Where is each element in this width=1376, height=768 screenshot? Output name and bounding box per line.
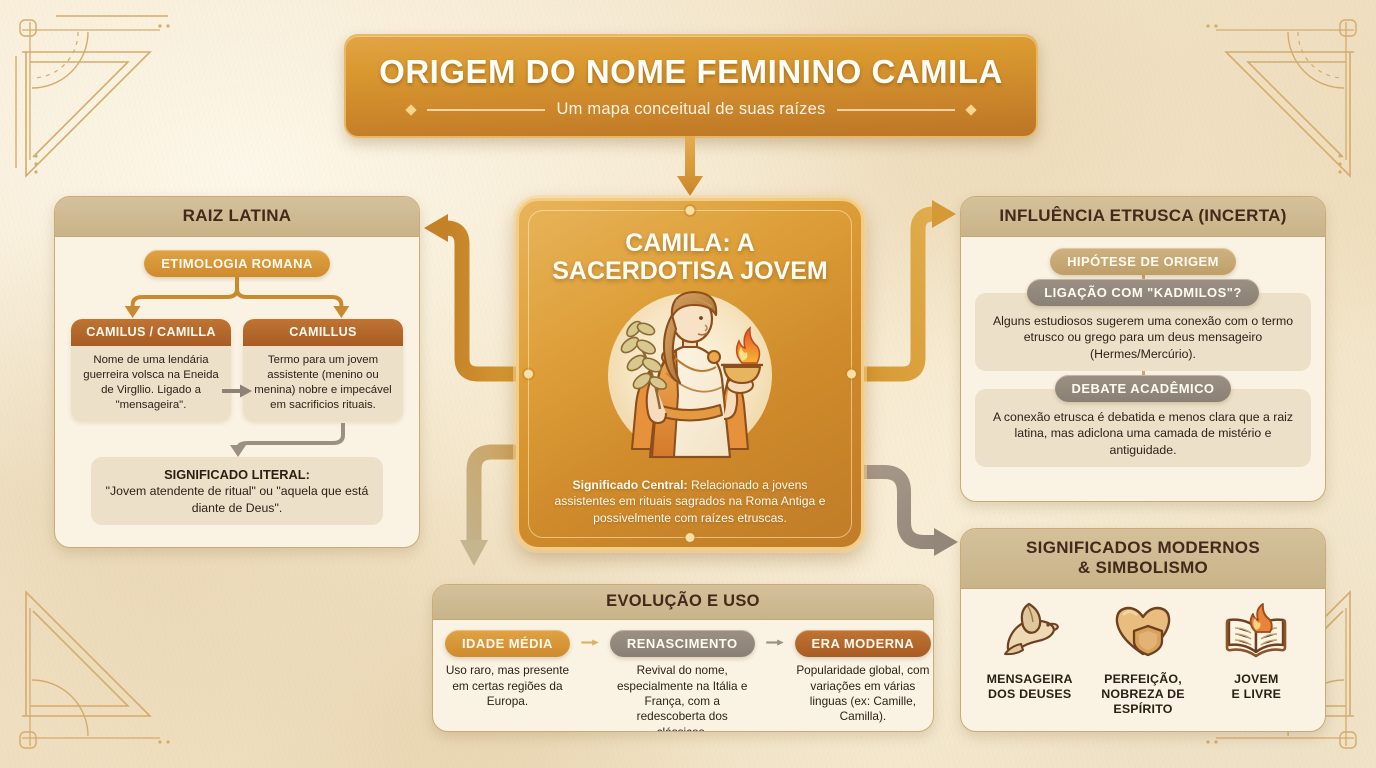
center-card-title-line-1: CAMILA: A <box>519 229 861 257</box>
page-subtitle: Um mapa conceitual de suas raízes <box>557 100 826 119</box>
card-camilus-camilla[interactable]: CAMILUS / CAMILLA Nome de uma lendária g… <box>71 319 231 421</box>
timeline-row: IDADE MÉDIA Uso raro, mas presente em ce… <box>445 630 921 732</box>
center-card-title-line-2: SACERDOTISA JOVEM <box>519 257 861 285</box>
symbol-item-perfeicao[interactable]: PERFEIÇÃO, NOBREZA DE ESPÍRITO <box>1089 602 1197 717</box>
pill-idade-media[interactable]: IDADE MÉDIA <box>445 630 570 657</box>
corner-ornament-bottom-left <box>0 588 180 768</box>
panel-influencia-etrusca-body: HIPÓTESE DE ORIGEM LIGAÇÃO COM "KADMILOS… <box>961 237 1325 479</box>
pill-ligacao-kadmilos[interactable]: LIGAÇÃO COM "KADMILOS"? <box>1027 279 1258 306</box>
branch-column-1: CAMILLUS Termo para um jovem assistente … <box>243 319 403 421</box>
card-camillus-title: CAMILLUS <box>243 319 403 346</box>
timeline-arrow-2-icon <box>755 630 795 646</box>
panel-significados-modernos-body: MENSAGEIRA DOS DEUSES PERFEIÇÃO, NOBREZA… <box>961 589 1325 727</box>
panel-significados-modernos-heading-line-2: & SIMBOLISMO <box>971 558 1315 578</box>
card-camilus-camilla-title: CAMILUS / CAMILLA <box>71 319 231 346</box>
diamond-ornament-right <box>966 104 977 115</box>
page-title: ORIGEM DO NOME FEMININO CAMILA <box>379 53 1003 91</box>
symbol-label-perfeicao: PERFEIÇÃO, NOBREZA DE ESPÍRITO <box>1089 672 1197 717</box>
card-significado-literal: SIGNIFICADO LITERAL: "Jovem atendente de… <box>91 457 383 525</box>
rule-left <box>427 109 545 111</box>
corner-ornament-top-left <box>0 0 180 180</box>
timeline-arrow-1-icon <box>570 630 610 646</box>
panel-evolucao-body: IDADE MÉDIA Uso raro, mas presente em ce… <box>433 620 933 732</box>
significado-literal-title: SIGNIFICADO LITERAL: <box>102 466 372 483</box>
text-era-moderna: Popularidade global, com variações em vá… <box>795 663 932 724</box>
timeline-stage-renascimento[interactable]: RENASCIMENTO Revival do nome, especialme… <box>610 630 755 732</box>
pill-etimologia-romana[interactable]: ETIMOLOGIA ROMANA <box>144 250 330 277</box>
heart-shield-icon <box>1112 602 1174 660</box>
panel-raiz-latina: RAIZ LATINA ETIMOLOGIA ROMANA CAMILUS / … <box>54 196 420 548</box>
panel-significados-modernos: SIGNIFICADOS MODERNOS & SIMBOLISMO MENSA… <box>960 528 1326 732</box>
node-dot-left <box>524 370 533 379</box>
panel-influencia-etrusca-heading: INFLUÊNCIA ETRUSCA (INCERTA) <box>961 197 1325 237</box>
rule-right <box>837 109 955 111</box>
panel-raiz-latina-heading: RAIZ LATINA <box>55 197 419 237</box>
connector-center-to-latina-icon <box>424 214 516 374</box>
diamond-ornament-left <box>405 104 416 115</box>
center-card-title: CAMILA: A SACERDOTISA JOVEM <box>519 229 861 286</box>
center-card-footnote: Significado Central: Relacionado a joven… <box>541 477 839 527</box>
arrow-between-camilus-and-camillus-icon <box>222 383 252 399</box>
connector-center-to-etrusca-icon <box>864 200 956 374</box>
panel-evolucao-heading: EVOLUÇÃO E USO <box>433 585 933 620</box>
center-card-footnote-label: Significado Central: <box>572 478 687 492</box>
etimologia-branch-columns: CAMILUS / CAMILLA Nome de uma lendária g… <box>71 319 403 421</box>
pill-renascimento[interactable]: RENASCIMENTO <box>610 630 755 657</box>
panel-influencia-etrusca: INFLUÊNCIA ETRUSCA (INCERTA) HIPÓTESE DE… <box>960 196 1326 502</box>
title-banner: ORIGEM DO NOME FEMININO CAMILA Um mapa c… <box>344 34 1038 138</box>
pill-hipotese-de-origem[interactable]: HIPÓTESE DE ORIGEM <box>1050 248 1236 275</box>
connector-center-to-evolucao-icon <box>460 452 516 566</box>
pill-era-moderna[interactable]: ERA MODERNA <box>795 630 932 657</box>
text-renascimento: Revival do nome, especialmente na Itália… <box>610 663 755 732</box>
symbol-row: MENSAGEIRA DOS DEUSES PERFEIÇÃO, NOBREZA… <box>973 602 1313 717</box>
card-camilus-camilla-text: Nome de uma lendária guerreira volsca na… <box>71 346 231 421</box>
symbol-item-jovem-livre[interactable]: JOVEM E LIVRE <box>1202 602 1310 702</box>
card-camillus[interactable]: CAMILLUS Termo para um jovem assistente … <box>243 319 403 421</box>
node-dot-right <box>847 370 856 379</box>
node-dot-bottom <box>686 533 695 542</box>
card-ligacao-kadmilos[interactable]: LIGAÇÃO COM "KADMILOS"? Alguns estudioso… <box>975 279 1311 371</box>
branch-connector-icon <box>71 277 403 319</box>
priestess-illustration-icon <box>584 289 796 467</box>
panel-raiz-latina-body: ETIMOLOGIA ROMANA CAMILUS / CAMILLA Nome… <box>55 237 419 540</box>
subtitle-row: Um mapa conceitual de suas raízes <box>407 100 976 119</box>
branch-column-0: CAMILUS / CAMILLA Nome de uma lendária g… <box>71 319 231 421</box>
center-card-camila: CAMILA: A SACERDOTISA JOVEM <box>516 198 864 550</box>
book-flame-icon <box>1225 602 1287 660</box>
panel-evolucao-e-uso: EVOLUÇÃO E USO IDADE MÉDIA Uso raro, mas… <box>432 584 934 732</box>
text-idade-media: Uso raro, mas presente em certas regiões… <box>445 663 570 709</box>
card-debate-academico[interactable]: DEBATE ACADÊMICO A conexão etrusca é deb… <box>975 375 1311 467</box>
etimologia-romana-row: ETIMOLOGIA ROMANA <box>71 250 403 277</box>
timeline-stage-era-moderna[interactable]: ERA MODERNA Popularidade global, com var… <box>795 630 932 724</box>
node-dot-top <box>686 206 695 215</box>
dove-icon <box>999 602 1061 660</box>
symbol-label-mensageira: MENSAGEIRA DOS DEUSES <box>976 672 1084 702</box>
corner-ornament-top-right <box>1196 0 1376 180</box>
pill-debate-academico[interactable]: DEBATE ACADÊMICO <box>1055 375 1232 402</box>
panel-significados-modernos-heading: SIGNIFICADOS MODERNOS & SIMBOLISMO <box>961 529 1325 589</box>
symbol-label-jovem-livre: JOVEM E LIVRE <box>1202 672 1310 702</box>
timeline-stage-idade-media[interactable]: IDADE MÉDIA Uso raro, mas presente em ce… <box>445 630 570 709</box>
card-camillus-text: Termo para um jovem assistente (menino o… <box>243 346 403 421</box>
connector-camillus-to-literal-icon <box>71 423 405 457</box>
symbol-item-mensageira[interactable]: MENSAGEIRA DOS DEUSES <box>976 602 1084 702</box>
connector-header-to-center-icon <box>676 136 704 200</box>
connector-center-to-modernos-icon <box>864 472 958 556</box>
panel-significados-modernos-heading-line-1: SIGNIFICADOS MODERNOS <box>971 538 1315 558</box>
significado-literal-text: "Jovem atendente de ritual" ou "aquela q… <box>102 483 372 516</box>
